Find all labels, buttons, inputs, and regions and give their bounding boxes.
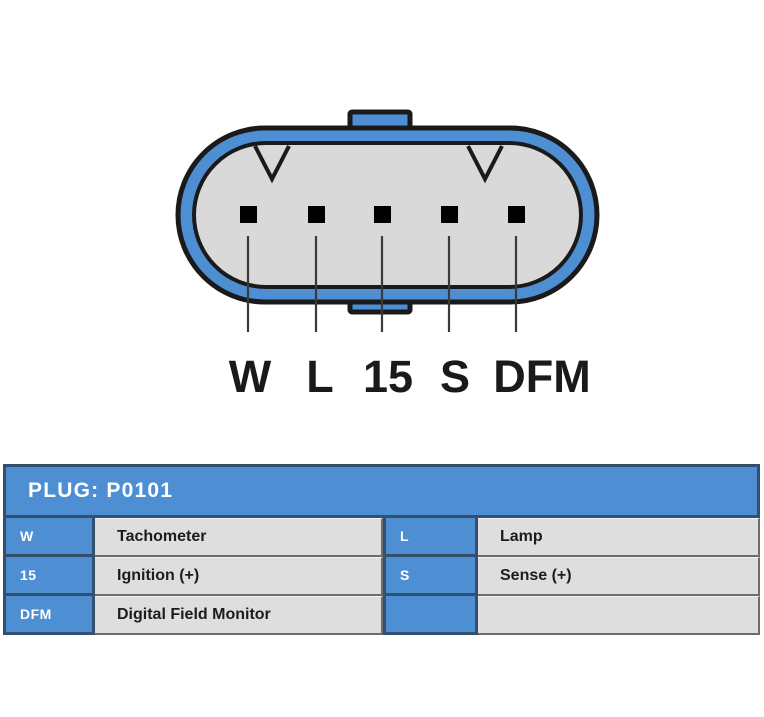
pin-label-5: DFM — [493, 351, 590, 402]
pin-contact-1 — [240, 206, 257, 223]
pin-key-w: W — [3, 518, 95, 557]
pin-key-15: 15 — [3, 557, 95, 596]
table-row: W Tachometer L Lamp — [3, 518, 760, 557]
pin-label-3: 15 — [363, 351, 413, 402]
pin-label-row: W L 15 S DFM — [229, 351, 591, 402]
pin-contact-4 — [441, 206, 458, 223]
pin-desc-s: Sense (+) — [478, 557, 760, 596]
pin-contact-5 — [508, 206, 525, 223]
pin-label-4: S — [440, 351, 470, 402]
pin-desc-15: Ignition (+) — [95, 557, 383, 596]
pin-key-s: S — [383, 557, 478, 596]
pin-label-1: W — [229, 351, 272, 402]
pin-desc-l: Lamp — [478, 518, 760, 557]
table-header-row: PLUG: P0101 — [3, 464, 760, 518]
pin-label-2: L — [306, 351, 334, 402]
pin-desc-empty — [478, 596, 760, 635]
plug-pinout-table: PLUG: P0101 W Tachometer L Lamp 15 Ignit… — [3, 464, 760, 635]
table-row: 15 Ignition (+) S Sense (+) — [3, 557, 760, 596]
connector-diagram: W L 15 S DFM — [0, 0, 764, 420]
connector-illustration: W L 15 S DFM — [0, 0, 764, 420]
pin-contact-3 — [374, 206, 391, 223]
pin-key-empty — [383, 596, 478, 635]
pin-key-l: L — [383, 518, 478, 557]
table-row: DFM Digital Field Monitor — [3, 596, 760, 635]
pin-desc-dfm: Digital Field Monitor — [95, 596, 383, 635]
pin-key-dfm: DFM — [3, 596, 95, 635]
plug-header-label: PLUG: P0101 — [3, 464, 760, 518]
pin-contact-2 — [308, 206, 325, 223]
pin-desc-w: Tachometer — [95, 518, 383, 557]
